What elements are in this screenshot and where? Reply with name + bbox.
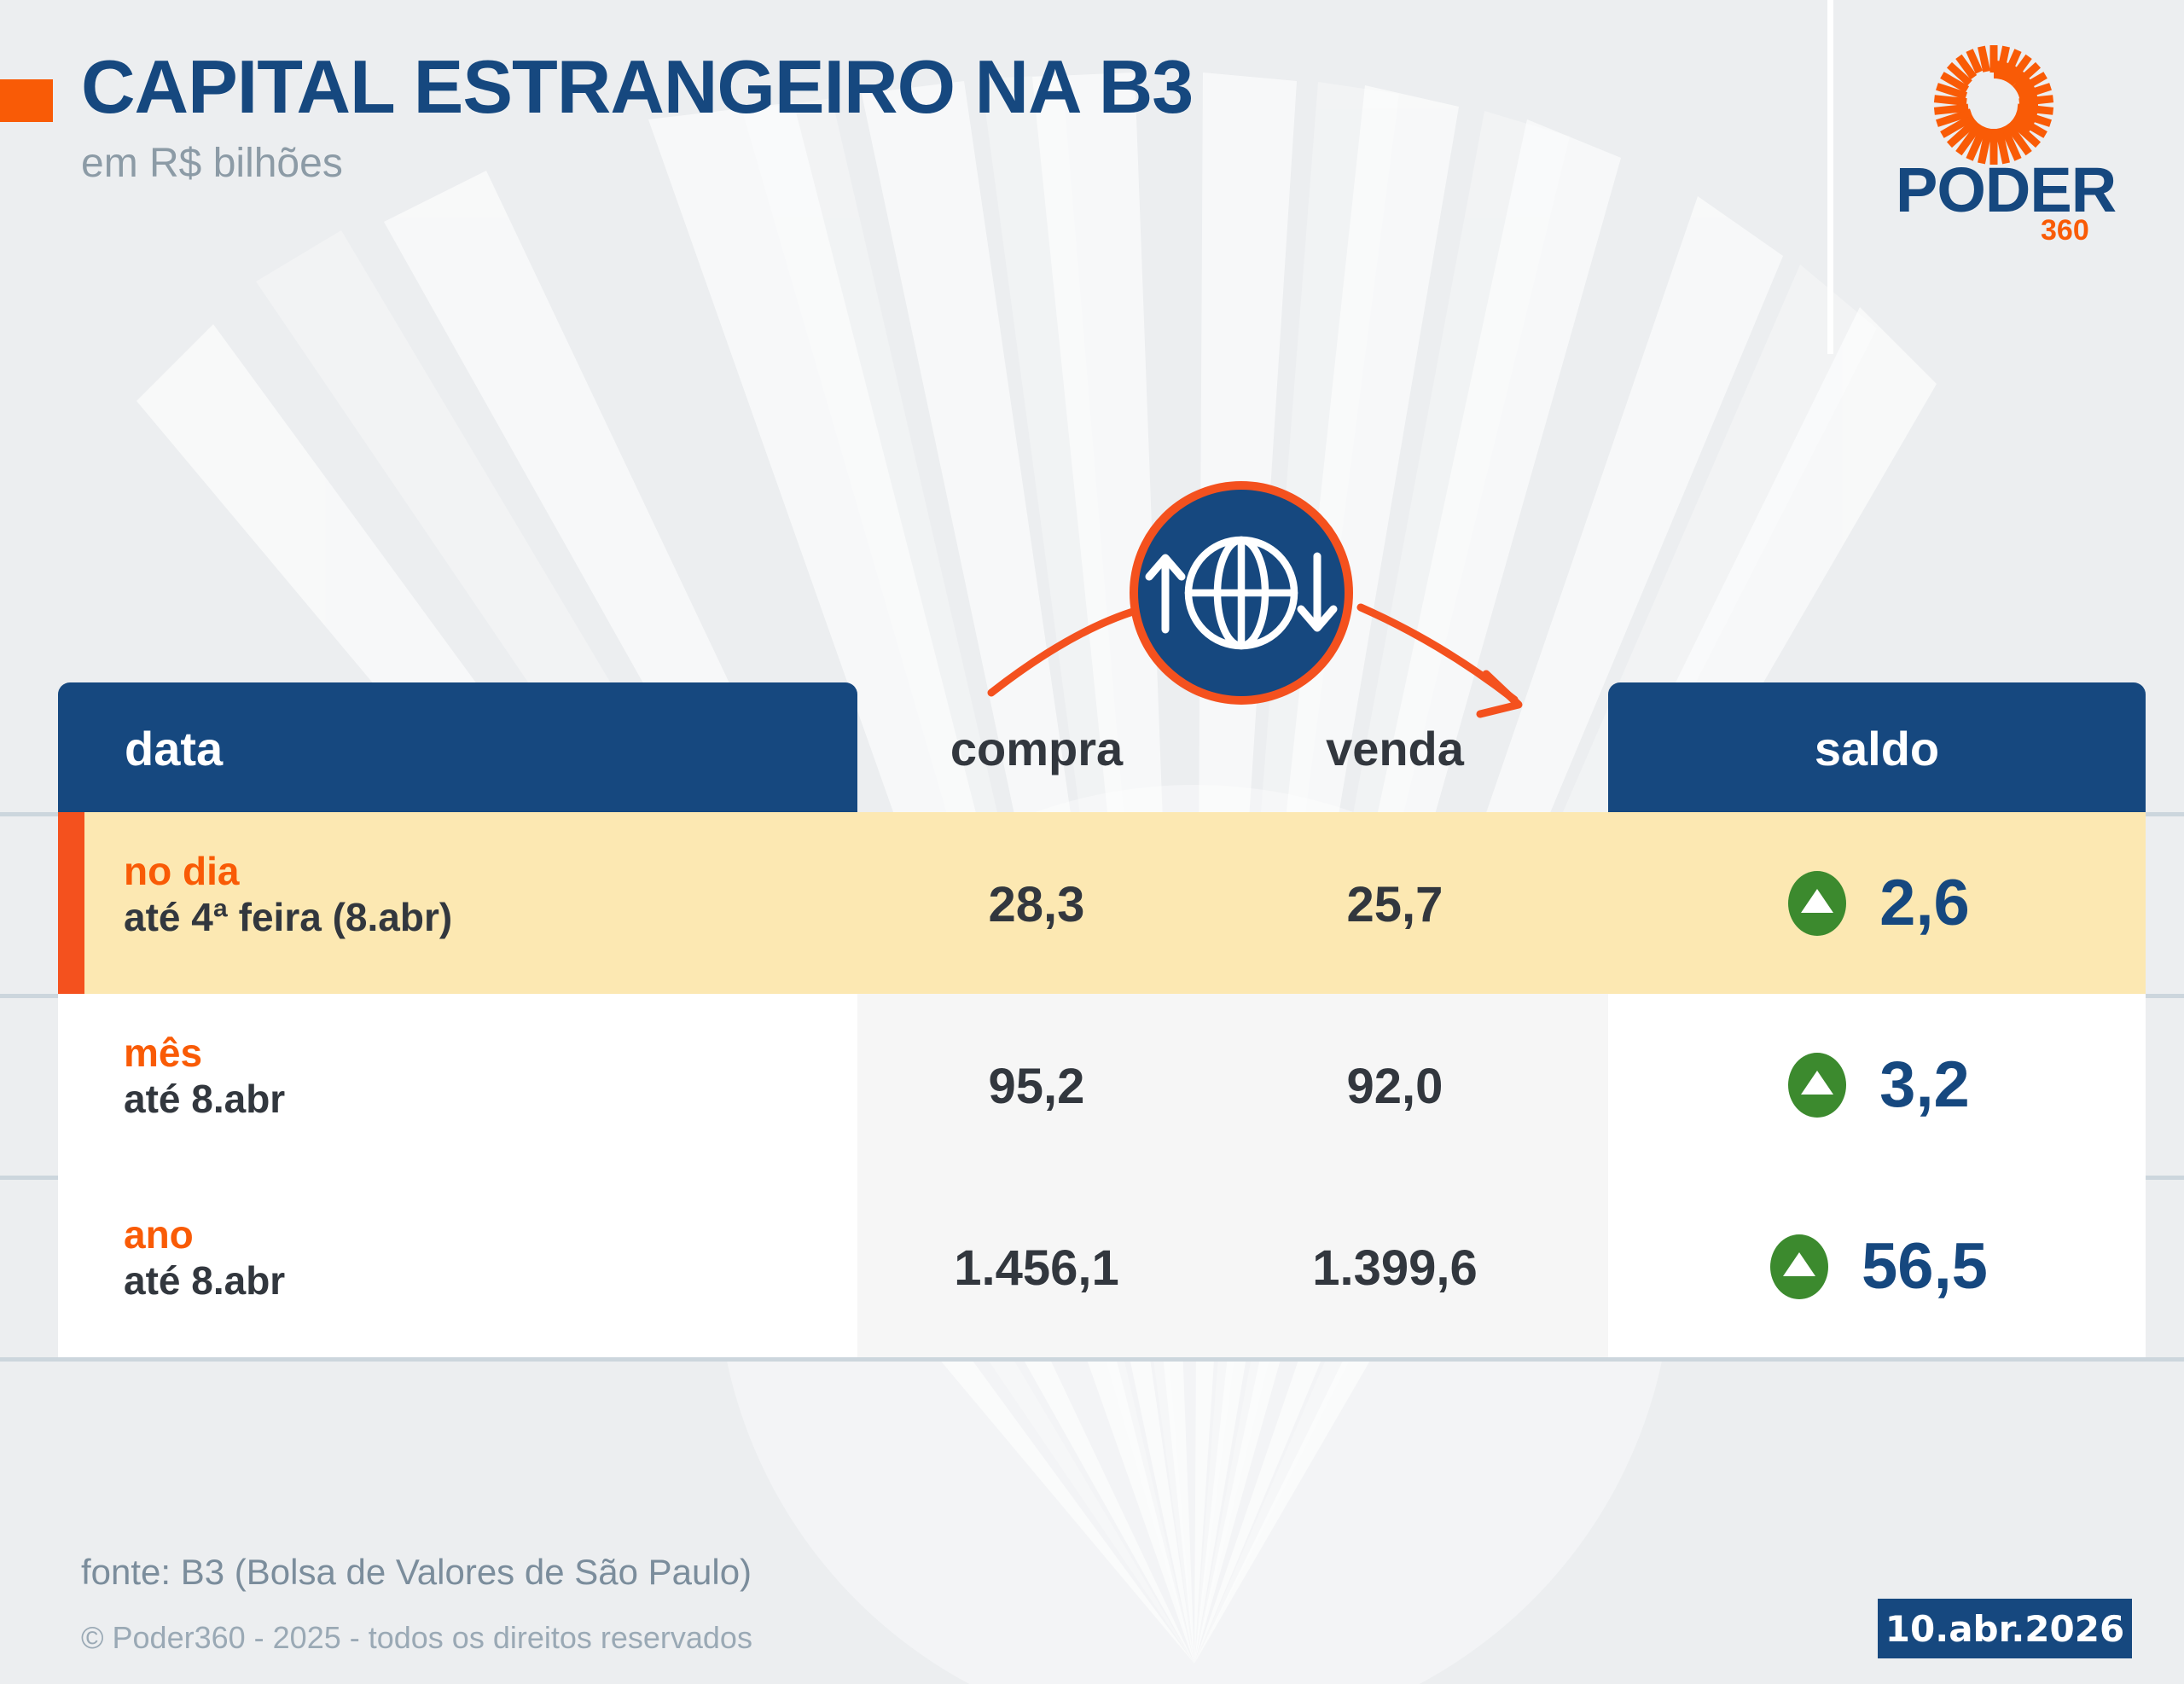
globe-import-export-icon xyxy=(1126,478,1356,708)
cell-period-detail: até 4ª feira (8.abr) xyxy=(124,894,832,940)
accent-square-icon xyxy=(0,79,53,122)
globe-import-export-badge xyxy=(1126,478,1356,708)
cell-venda: 92,0 xyxy=(1216,1062,1574,1112)
cell-period-label: ano xyxy=(124,1211,832,1257)
cell-period: mês até 8.abr xyxy=(124,1030,832,1123)
cell-compra: 95,2 xyxy=(857,1062,1216,1112)
column-header-data: data xyxy=(58,682,857,812)
cell-period-label: mês xyxy=(124,1030,832,1076)
cell-saldo: 2,6 xyxy=(1608,870,2146,937)
cell-saldo: 56,5 xyxy=(1608,1234,2146,1300)
cell-compra: 1.456,1 xyxy=(857,1244,1216,1293)
column-header-saldo: saldo xyxy=(1608,682,2146,812)
header: CAPITAL ESTRANGEIRO NA B3 em R$ bilhões xyxy=(0,0,2184,358)
data-table: data compra venda saldo no dia até 4ª fe… xyxy=(0,682,2184,1357)
table-row: no dia até 4ª feira (8.abr) 28,3 25,7 2,… xyxy=(0,812,2184,994)
footer: fonte: B3 (Bolsa de Valores de São Paulo… xyxy=(0,1527,2184,1684)
arrow-up-circle-icon xyxy=(1784,1052,1850,1118)
cell-saldo: 3,2 xyxy=(1608,1052,2146,1118)
header-divider xyxy=(1827,0,1833,354)
cell-venda: 1.399,6 xyxy=(1216,1244,1574,1293)
cell-compra: 28,3 xyxy=(857,880,1216,930)
logo-wordmark: PODER xyxy=(1896,159,2116,222)
cell-period-detail: até 8.abr xyxy=(124,1257,832,1304)
cell-saldo-value: 2,6 xyxy=(1879,871,1970,936)
column-header-data-label: data xyxy=(125,725,223,773)
column-header-saldo-label: saldo xyxy=(1608,725,2146,773)
page-title: CAPITAL ESTRANGEIRO NA B3 xyxy=(81,49,1193,125)
cell-period: no dia até 4ª feira (8.abr) xyxy=(124,848,832,941)
cell-saldo-value: 56,5 xyxy=(1862,1234,1988,1299)
row-accent-bar xyxy=(58,812,84,994)
copyright-note: © Poder360 - 2025 - todos os direitos re… xyxy=(81,1623,752,1653)
cell-period: ano até 8.abr xyxy=(124,1211,832,1304)
row-separator xyxy=(0,1357,2184,1362)
arrow-up-circle-icon xyxy=(1784,870,1850,937)
poder360-logo: PODER 360 xyxy=(1896,41,2117,263)
date-badge-label: 10.abr.2026 xyxy=(1878,1611,2132,1647)
cell-period-detail: até 8.abr xyxy=(124,1076,832,1122)
table-row: ano até 8.abr 1.456,1 1.399,6 56,5 xyxy=(0,1176,2184,1357)
logo-suffix: 360 xyxy=(2041,216,2089,245)
date-badge: 10.abr.2026 xyxy=(1878,1599,2132,1658)
cell-period-label: no dia xyxy=(124,848,832,894)
source-note: fonte: B3 (Bolsa de Valores de São Paulo… xyxy=(81,1554,752,1590)
sunburst-icon xyxy=(1913,41,2075,169)
page-subtitle: em R$ bilhões xyxy=(81,143,343,184)
cell-saldo-value: 3,2 xyxy=(1879,1053,1970,1118)
cell-venda: 25,7 xyxy=(1216,880,1574,930)
table-row: mês até 8.abr 95,2 92,0 3,2 xyxy=(0,994,2184,1176)
arrow-up-circle-icon xyxy=(1766,1234,1833,1300)
